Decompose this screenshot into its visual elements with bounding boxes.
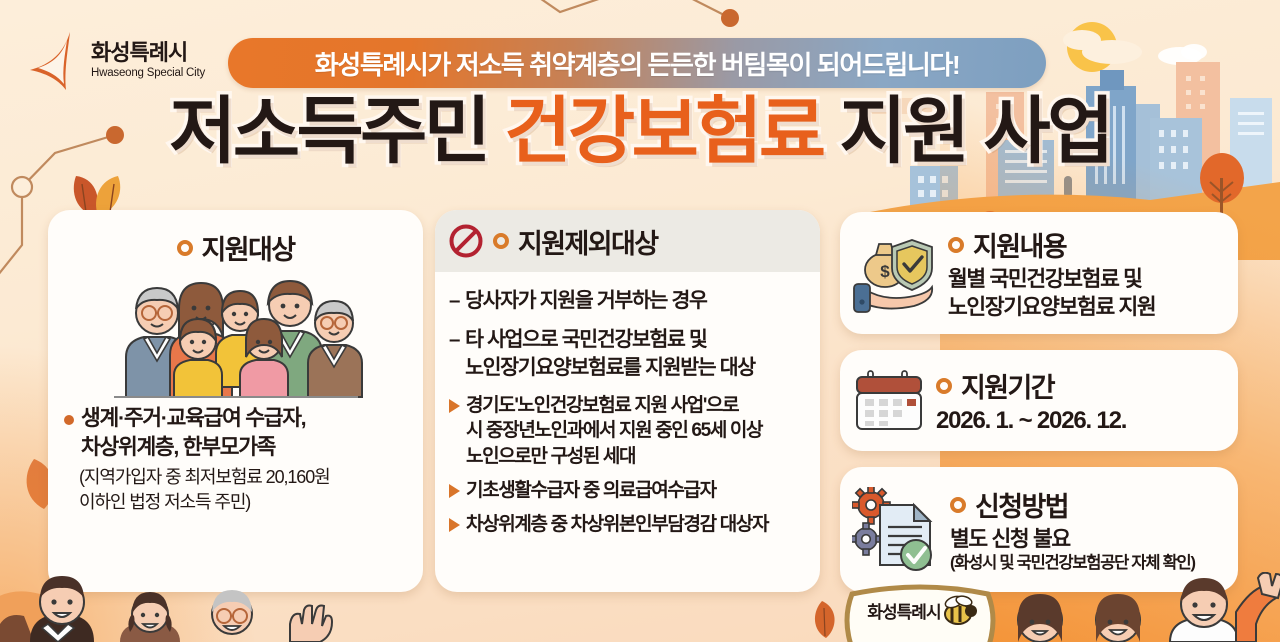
document-gear-check-icon (852, 487, 940, 573)
footer-badge: 화성특례시 (838, 584, 1002, 642)
page-title-part2: 건강보험료 (504, 91, 822, 172)
card-support-period-title-row: 지원기간 (936, 366, 1228, 405)
support-content-text: 월별 국민건강보험료 및 노인장기요양보험료 지원 (948, 266, 1228, 320)
exclusion-dash-2: 타 사업으로 국민건강보험료 및 노인장기요양보험료를 지원받는 대상 (465, 326, 755, 382)
card-support-target-body: 생계·주거·교육급여 수급자, 차상위계층, 한부모가족 (지역가입자 중 최저… (48, 400, 423, 515)
exclusion-dash-1: 당사자가 지원을 거부하는 경우 (465, 287, 706, 315)
ring-icon (493, 233, 509, 249)
exclusion-tri-1-line2: 시 중장년노인과에서 지원 중인 65세 이상 (466, 418, 762, 443)
page-title-part1: 저소득주민 (169, 91, 504, 172)
card-exclusion-header: 지원제외대상 (435, 210, 820, 272)
poster-root: 화성특례시 Hwaseong Special City 화성특례시가 저소득 취… (0, 0, 1280, 642)
star-sparkle-icon (24, 30, 82, 92)
triangle-bullet-icon (449, 399, 460, 413)
support-period-value: 2026. 1. ~ 2026. 12. (936, 407, 1228, 435)
card-exclusion-title-row: 지원제외대상 (493, 222, 657, 261)
exclusion-tri-3: 차상위계층 중 차상위본인부담경감 대상자 (466, 512, 768, 537)
card-exclusion-title: 지원제외대상 (518, 222, 657, 261)
support-target-line1: 생계·주거·교육급여 수급자, (81, 404, 305, 433)
list-item: 경기도'노인건강보험료 지원 사업'으로 시 중장년노인과에서 지원 중인 65… (449, 393, 808, 469)
support-target-note-line1: (지역가입자 중 최저보험료 20,160원 (79, 465, 409, 490)
ring-icon (177, 240, 193, 256)
exclusion-dash-2-line1: 타 사업으로 국민건강보험료 및 (465, 326, 755, 354)
page-title: 저소득주민 건강보험료 지원 사업 (0, 95, 1280, 168)
bottom-people-left-illustration (0, 572, 400, 642)
exclusion-tri-1-line1: 경기도'노인건강보험료 지원 사업'으로 (466, 393, 762, 418)
exclusion-tri-1: 경기도'노인건강보험료 지원 사업'으로 시 중장년노인과에서 지원 중인 65… (466, 393, 762, 469)
ribbon-text: 화성특례시가 저소득 취약계층의 든든한 버팀목이 되어드립니다! (315, 45, 959, 82)
card-exclusion: 지원제외대상 – 당사자가 지원을 거부하는 경우 – 타 사업으로 국민건강보… (435, 210, 820, 592)
ring-icon (936, 378, 952, 394)
card-support-content-title-row: 지원내용 (948, 225, 1228, 264)
ring-icon (948, 237, 964, 253)
card-apply-method-title-row: 신청방법 (950, 485, 1228, 524)
exclusion-tri-2: 기초생활수급자 중 의료급여수급자 (466, 478, 716, 503)
card-support-period-title: 지원기간 (961, 366, 1054, 405)
card-support-target-title: 지원대상 (202, 228, 295, 267)
exclusion-tri-1-line3: 노인으로만 구성된 세대 (466, 444, 762, 469)
dash-marker: – (449, 326, 459, 382)
footer-badge-text: 화성특례시 (867, 603, 940, 622)
card-support-target: 지원대상 (48, 210, 423, 592)
card-support-period: 지원기간 2026. 1. ~ 2026. 12. (840, 350, 1238, 451)
bottom-people-right-illustration (1000, 572, 1280, 642)
card-apply-method-title: 신청방법 (975, 485, 1068, 524)
card-support-target-title-row: 지원대상 (177, 228, 295, 267)
apply-method-line1: 별도 신청 불요 (950, 526, 1228, 553)
card-support-content: $ 지원내용 월별 국민건강보험료 및 노인장기요양보험료 지원 (840, 212, 1238, 334)
list-item: 차상위계층 중 차상위본인부담경감 대상자 (449, 512, 808, 537)
dash-marker: – (449, 287, 459, 315)
support-content-line2: 노인장기요양보험료 지원 (948, 294, 1228, 321)
triangle-bullet-icon (449, 484, 460, 498)
ring-icon (950, 497, 966, 513)
city-logo: 화성특례시 Hwaseong Special City (24, 30, 205, 92)
support-target-main-text: 생계·주거·교육급여 수급자, 차상위계층, 한부모가족 (81, 404, 305, 462)
support-target-line2: 차상위계층, 한부모가족 (81, 433, 305, 462)
money-shield-hand-icon: $ (852, 232, 938, 314)
card-support-content-title: 지원내용 (973, 225, 1066, 264)
page-title-part3: 지원 사업 (823, 91, 1111, 172)
bullet-dot-icon (64, 415, 74, 425)
svg-text:$: $ (880, 262, 890, 281)
calendar-icon (852, 367, 926, 435)
card-exclusion-body: – 당사자가 지원을 거부하는 경우 – 타 사업으로 국민건강보험료 및 노인… (435, 272, 820, 538)
prohibited-icon (449, 224, 483, 258)
support-target-note: (지역가입자 중 최저보험료 20,160원 이하인 법정 저소득 주민) (64, 465, 409, 515)
headline-ribbon: 화성특례시가 저소득 취약계층의 든든한 버팀목이 되어드립니다! (228, 38, 1046, 88)
list-item: – 타 사업으로 국민건강보험료 및 노인장기요양보험료를 지원받는 대상 (449, 326, 808, 382)
list-item: 생계·주거·교육급여 수급자, 차상위계층, 한부모가족 (64, 404, 409, 462)
logo-name-en: Hwaseong Special City (91, 68, 205, 80)
support-content-line1: 월별 국민건강보험료 및 (948, 266, 1228, 293)
list-item: – 당사자가 지원을 거부하는 경우 (449, 287, 808, 315)
triangle-bullet-icon (449, 518, 460, 532)
list-item: 기초생활수급자 중 의료급여수급자 (449, 478, 808, 503)
family-group-illustration (108, 275, 364, 400)
support-target-note-line2: 이하인 법정 저소득 주민) (79, 490, 409, 515)
card-support-target-header: 지원대상 (48, 210, 423, 267)
apply-method-note: (화성시 및 국민건강보험공단 자체 확인) (950, 554, 1228, 574)
exclusion-dash-2-line2: 노인장기요양보험료를 지원받는 대상 (465, 354, 755, 382)
logo-name-ko: 화성특례시 (91, 42, 205, 64)
